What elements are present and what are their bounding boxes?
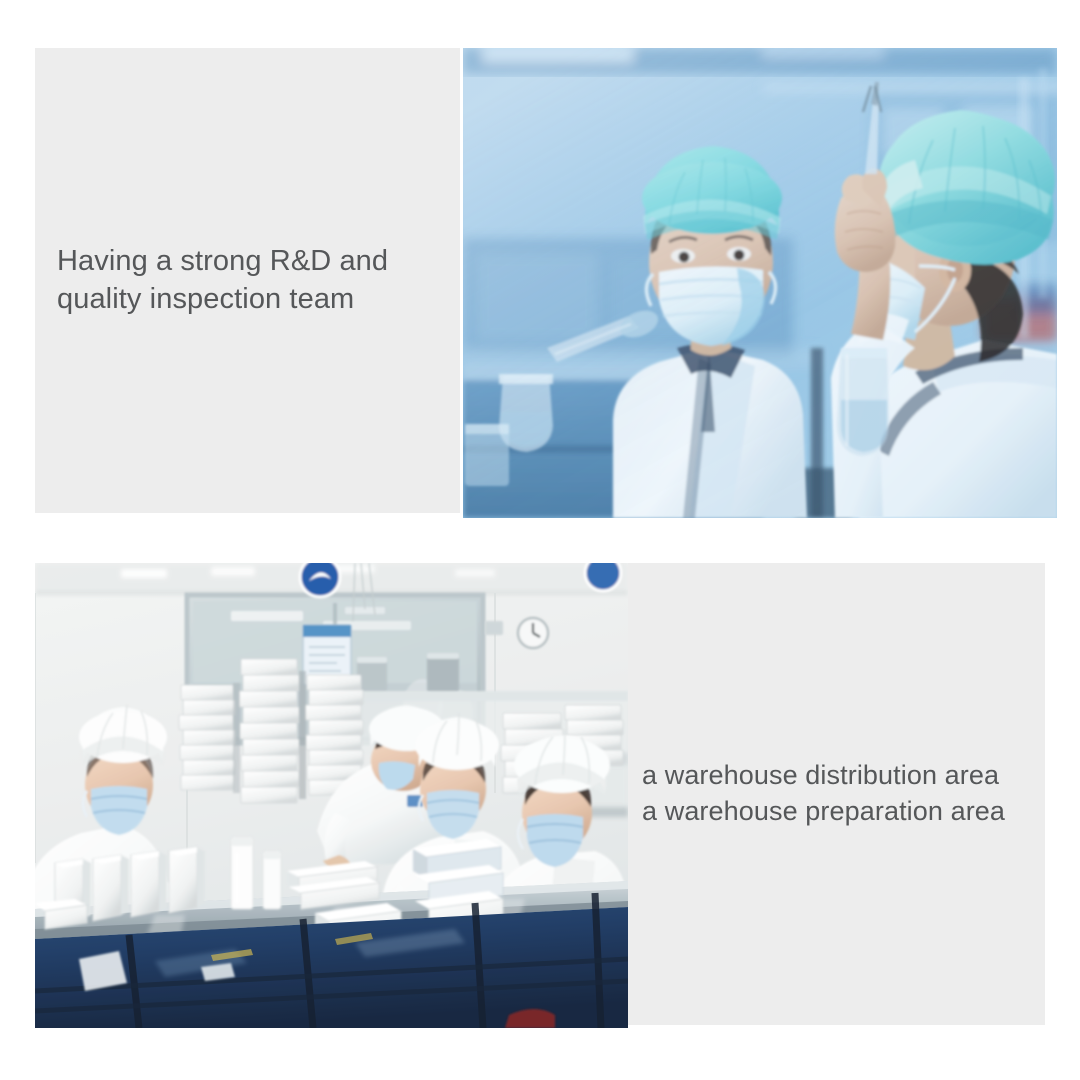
banner-page: Having a strong R&D and quality inspecti… (0, 0, 1080, 1080)
row-2-caption-panel: a warehouse distribution area a warehous… (628, 563, 1045, 1025)
warehouse-packing-cleanroom-photo (35, 563, 628, 1028)
row-1-caption-panel: Having a strong R&D and quality inspecti… (35, 48, 460, 513)
row-1-caption-text: Having a strong R&D and quality inspecti… (35, 243, 398, 318)
row-2-caption-text: a warehouse distribution area a warehous… (628, 758, 1011, 829)
lab-rd-quality-inspection-photo (463, 48, 1057, 518)
